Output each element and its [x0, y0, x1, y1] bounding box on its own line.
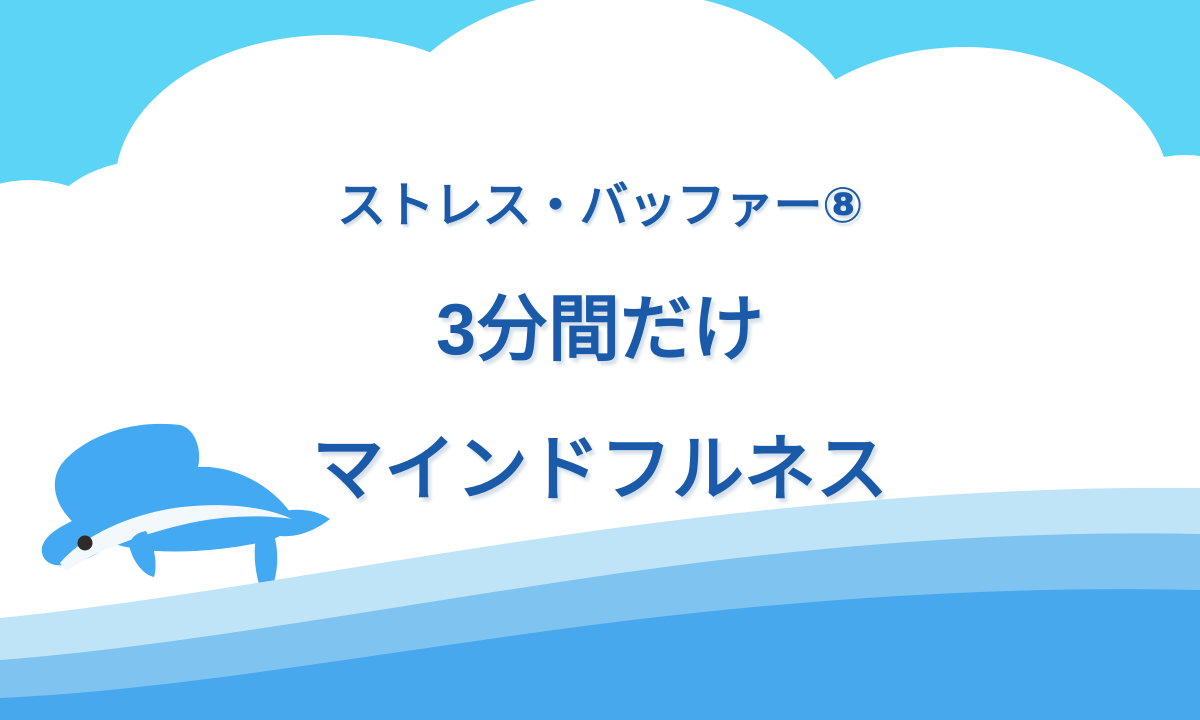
- poster-canvas: ストレス・バッファー⑧ 3分間だけ マインドフルネス: [0, 0, 1200, 720]
- dolphin-eye-icon: [78, 536, 93, 551]
- page-title-line2: マインドフルネス: [0, 434, 1200, 506]
- series-eyebrow: ストレス・バッファー⑧: [0, 182, 1200, 231]
- page-title-line1: 3分間だけ: [0, 294, 1200, 366]
